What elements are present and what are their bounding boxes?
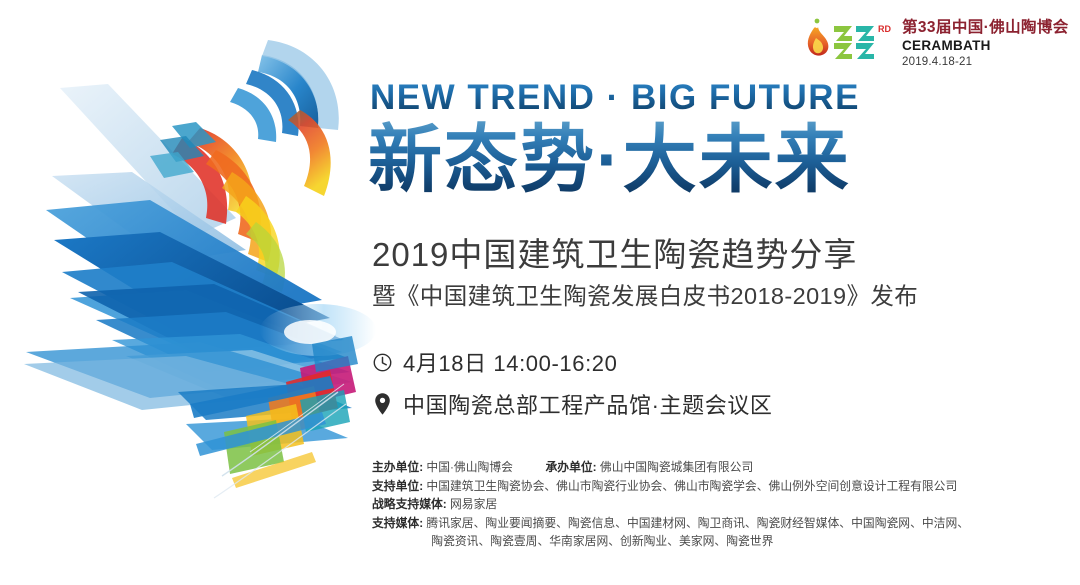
event-venue-text: 中国陶瓷总部工程产品馆·主题会议区 xyxy=(403,388,773,420)
credit-line-media-2: 陶瓷资讯、陶瓷壹周、华南家居网、创新陶业、美家网、陶瓷世界 xyxy=(372,532,1072,551)
media-value-line2: 陶瓷资讯、陶瓷壹周、华南家居网、创新陶业、美家网、陶瓷世界 xyxy=(431,534,773,548)
headline-chinese: 新态势·大未来 xyxy=(368,118,851,202)
event-poster: RD 第33届中国·佛山陶博会 CERAMBATH 2019.4.18-21 N… xyxy=(0,0,1080,585)
supporters-label: 支持单位: xyxy=(372,479,423,493)
strategic-media-label: 战略支持媒体: xyxy=(372,497,447,511)
poster-content: NEW TREND · BIG FUTURE 新态势·大未来 2019中国建筑卫… xyxy=(368,0,1080,585)
event-time-row: 4月18日 14:00-16:20 xyxy=(370,346,617,378)
credits-block: 主办单位: 中国·佛山陶博会 承办单位: 佛山中国陶瓷城集团有限公司 支持单位:… xyxy=(372,458,1072,551)
media-value-line1: 腾讯家居、陶业要闻摘要、陶瓷信息、中国建材网、陶卫商讯、陶瓷财经智媒体、中国陶瓷… xyxy=(426,516,969,530)
subtitle-secondary: 暨《中国建筑卫生陶瓷发展白皮书2018-2019》发布 xyxy=(372,277,918,311)
location-pin-icon xyxy=(370,391,394,417)
credit-line-organizers: 主办单位: 中国·佛山陶博会 承办单位: 佛山中国陶瓷城集团有限公司 xyxy=(372,458,1072,477)
co-organizer-label: 承办单位: xyxy=(545,460,596,474)
event-venue-row: 中国陶瓷总部工程产品馆·主题会议区 xyxy=(370,388,773,420)
organizer-label: 主办单位: xyxy=(372,460,423,474)
credit-line-supporters: 支持单位: 中国建筑卫生陶瓷协会、佛山市陶瓷行业协会、佛山市陶瓷学会、佛山例外空… xyxy=(372,477,1072,496)
credit-line-strategic-media: 战略支持媒体: 网易家居 xyxy=(372,495,1072,514)
clock-icon xyxy=(370,349,394,375)
organizer-value: 中国·佛山陶博会 xyxy=(426,460,513,474)
event-time-text: 4月18日 14:00-16:20 xyxy=(403,346,617,378)
co-organizer-value: 佛山中国陶瓷城集团有限公司 xyxy=(600,460,753,474)
abstract-ribbon-shards-graphic xyxy=(0,0,380,585)
credit-line-media-1: 支持媒体: 腾讯家居、陶业要闻摘要、陶瓷信息、中国建材网、陶卫商讯、陶瓷财经智媒… xyxy=(372,514,1072,533)
supporters-value: 中国建筑卫生陶瓷协会、佛山市陶瓷行业协会、佛山市陶瓷学会、佛山例外空间创意设计工… xyxy=(426,479,957,493)
subtitle-primary: 2019中国建筑卫生陶瓷趋势分享 xyxy=(372,228,857,276)
media-label: 支持媒体: xyxy=(372,516,423,530)
strategic-media-value: 网易家居 xyxy=(450,497,497,511)
headline-english: NEW TREND · BIG FUTURE xyxy=(370,78,860,118)
